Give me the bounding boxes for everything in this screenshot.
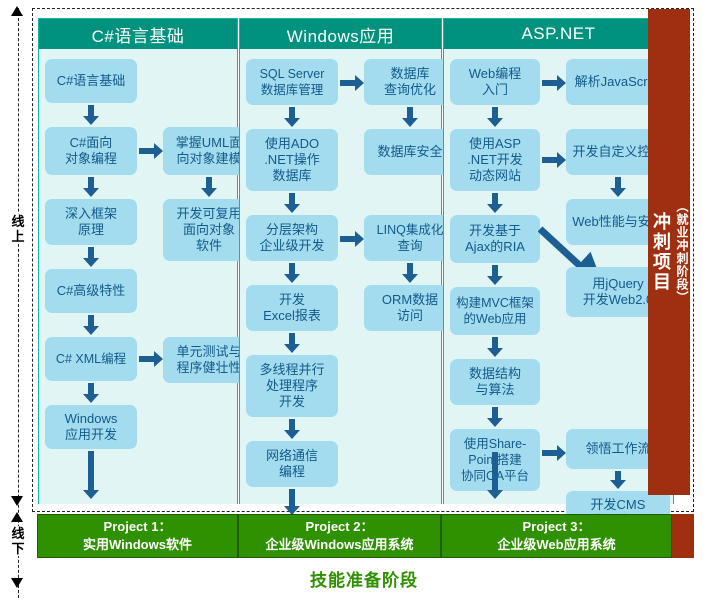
node-main-5[interactable]: 多线程并行 处理程序 开发 (246, 355, 338, 417)
axis-label-offline: 线下 (9, 526, 27, 556)
node-main-4[interactable]: 构建MVC框架 的Web应用 (450, 287, 540, 335)
project-3-title: Project 3： (523, 518, 591, 536)
arrow-down-main-1 (83, 105, 99, 125)
node-main-5[interactable]: 数据结构 与算法 (450, 359, 540, 405)
node-main-4[interactable]: 开发 Excel报表 (246, 285, 338, 331)
sprint-project-subtitle: （就业冲刺阶段） (674, 200, 690, 304)
column-body-csharp-basics: C#语言基础 C#面向 对象编程 深入框架 原理 C#高级特性 (39, 49, 237, 504)
project-1-title: Project 1： (104, 518, 172, 536)
node-main-1[interactable]: C#语言基础 (45, 59, 137, 103)
arrow-down-main-2 (487, 193, 503, 213)
node-main-3[interactable]: 分层架构 企业级开发 (246, 215, 338, 261)
sprint-project-title: 冲刺项目 (648, 212, 674, 292)
column-body-windows-apps: SQL Server 数据库管理 使用ADO .NET操作 数据库 分层架构 企… (240, 49, 441, 504)
project-band-red-cap (672, 514, 694, 558)
arrow-down-main-4 (83, 315, 99, 335)
arrow-down-main-3 (83, 247, 99, 267)
project-band-2[interactable]: Project 2： 企业级Windows应用系统 (238, 514, 441, 558)
arrow-down-side-3 (402, 263, 418, 283)
node-main-1[interactable]: SQL Server 数据库管理 (246, 59, 338, 105)
arrow-down-main-1 (284, 107, 300, 127)
arrow-right-main-6 (542, 445, 566, 461)
column-header-csharp-basics: C#语言基础 (39, 19, 237, 49)
project-2-subtitle: 企业级Windows应用系统 (266, 536, 414, 554)
arrow-down-main-5 (284, 419, 300, 439)
arrow-down-side-1 (402, 107, 418, 127)
axis-arrow-down-top (11, 496, 23, 506)
timeline-axis-line (18, 8, 19, 598)
axis-arrow-up-bottom (11, 512, 23, 522)
arrow-down-side-5 (610, 471, 626, 489)
column-csharp-basics: C#语言基础 C#语言基础 C#面向 对象编程 深入框架 原理 C#高级特性 (38, 18, 238, 504)
arrow-down-main-5 (487, 407, 503, 427)
node-main-3[interactable]: 深入框架 原理 (45, 199, 137, 245)
arrow-down-side-2 (610, 177, 626, 197)
arrow-down-main-2 (83, 177, 99, 197)
arrow-down-main-6-exit (83, 451, 99, 499)
column-header-aspnet: ASP.NET (444, 19, 673, 49)
arrow-down-side-1 (201, 177, 217, 197)
axis-label-online: 线上 (9, 214, 27, 244)
node-main-1[interactable]: Web编程 入门 (450, 59, 540, 105)
arrow-down-main-3 (284, 263, 300, 283)
roadmap-diagram: 线上 线下 C#语言基础 C#语言基础 C#面向 对象编程 深入框架 原理 (0, 0, 728, 610)
project-band-1[interactable]: Project 1： 实用Windows软件 (37, 514, 238, 558)
arrow-down-main-3 (487, 265, 503, 285)
node-main-4[interactable]: C#高级特性 (45, 269, 137, 313)
node-main-3[interactable]: 开发基于 Ajax的RIA (450, 215, 540, 263)
project-1-subtitle: 实用Windows软件 (83, 536, 192, 554)
arrow-right-main-3 (340, 231, 364, 247)
diagram-frame: C#语言基础 C#语言基础 C#面向 对象编程 深入框架 原理 C#高级特性 (32, 8, 694, 512)
arrow-down-main-5 (83, 383, 99, 403)
node-main-2[interactable]: 使用ADO .NET操作 数据库 (246, 129, 338, 191)
column-aspnet: ASP.NET Web编程 入门 使用ASP .NET开发 动态网站 开发基于 … (443, 18, 674, 504)
node-main-5[interactable]: C# XML编程 (45, 337, 137, 381)
arrow-down-main-4 (284, 333, 300, 353)
sprint-project-bar: 冲刺项目 （就业冲刺阶段） (648, 9, 690, 495)
project-2-title: Project 2： (306, 518, 374, 536)
project-band-3[interactable]: Project 3： 企业级Web应用系统 (441, 514, 672, 558)
column-header-windows-apps: Windows应用 (240, 19, 441, 49)
arrow-down-main-6-exit (487, 452, 503, 499)
node-main-2[interactable]: 使用ASP .NET开发 动态网站 (450, 129, 540, 191)
arrow-down-main-6-exit (284, 489, 300, 515)
node-main-6[interactable]: 网络通信 编程 (246, 441, 338, 487)
arrow-right-main-1 (340, 75, 364, 91)
arrow-right-main-1 (542, 75, 566, 91)
arrow-right-main-2 (139, 143, 163, 159)
arrow-right-main-2 (542, 152, 566, 168)
project-3-subtitle: 企业级Web应用系统 (497, 536, 615, 554)
column-windows-apps: Windows应用 SQL Server 数据库管理 使用ADO .NET操作 … (239, 18, 442, 504)
arrow-right-main-5 (139, 351, 163, 367)
axis-arrow-up-top (11, 6, 23, 16)
node-main-2[interactable]: C#面向 对象编程 (45, 127, 137, 175)
node-main-6[interactable]: Windows 应用开发 (45, 405, 137, 449)
column-body-aspnet: Web编程 入门 使用ASP .NET开发 动态网站 开发基于 Ajax的RIA (444, 49, 673, 504)
bottom-caption: 技能准备阶段 (0, 566, 728, 591)
arrow-down-main-4 (487, 337, 503, 357)
arrow-down-main-2 (284, 193, 300, 213)
arrow-down-main-1 (487, 107, 503, 127)
